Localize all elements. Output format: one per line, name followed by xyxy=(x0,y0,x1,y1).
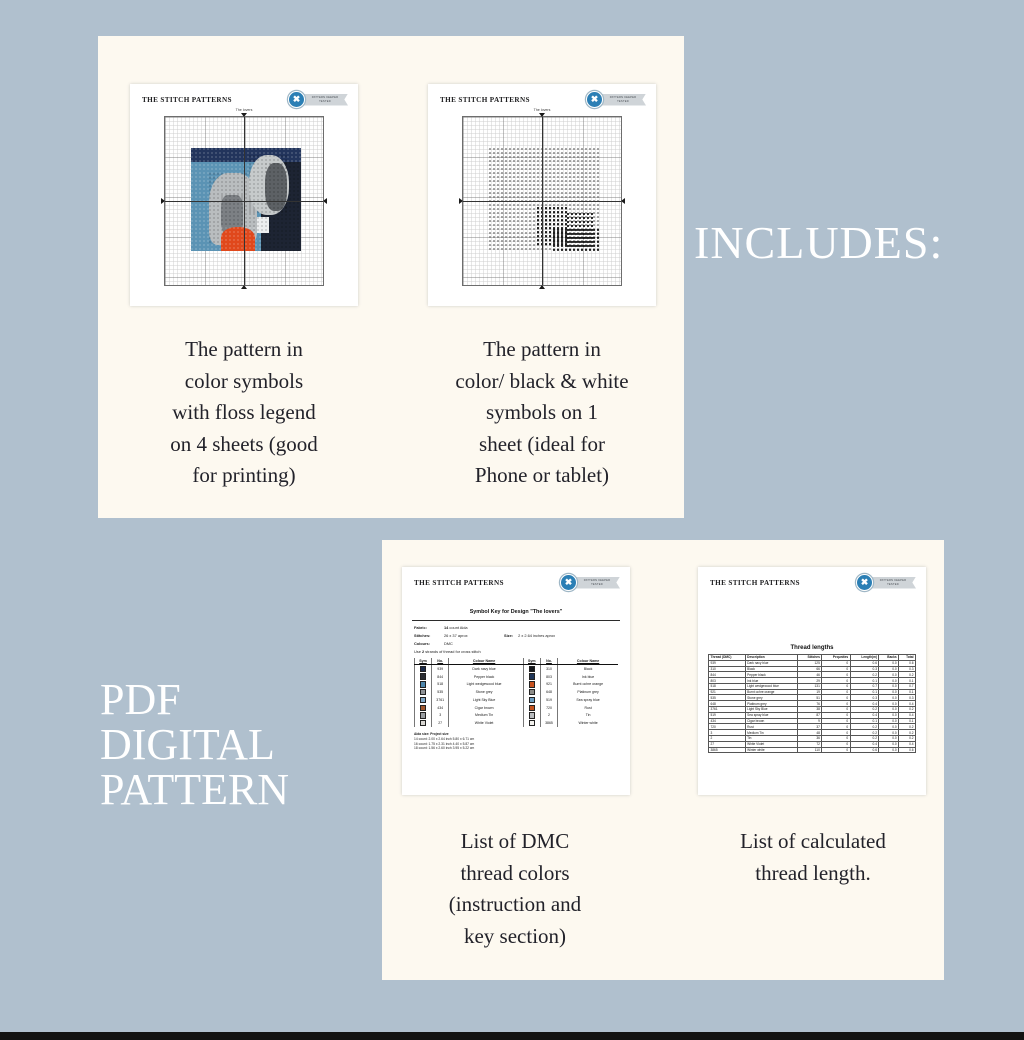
key-cell: Medium Tin xyxy=(449,712,519,720)
caption-line-1: The pattern in xyxy=(424,334,660,366)
table-row: 3761Light Sky Blue519Sea spray blue xyxy=(415,696,619,704)
key-cell: Cigar brown xyxy=(449,704,519,712)
color-symbol-icon xyxy=(420,720,426,726)
stitch-texture xyxy=(257,217,269,233)
table-row: 939Dark navy blue310Black xyxy=(415,665,619,673)
color-symbol-icon xyxy=(420,712,426,718)
key-cell: 519 xyxy=(540,696,557,704)
badge-ribbon-line-2: TESTED xyxy=(887,583,899,586)
key-cell: 310 xyxy=(540,665,557,673)
size-label: Size: xyxy=(504,633,513,638)
chart-grid[interactable] xyxy=(164,116,324,286)
pdf-heading-line-3: PATTERN xyxy=(100,768,360,813)
pattern-keeper-badge: ✖ PATTERN KEEPER TESTED xyxy=(586,91,646,108)
table-row: 535Stone grey648Platinum grey xyxy=(415,688,619,696)
key-cell: Pepper black xyxy=(449,673,519,681)
caption-line-3: with floss legend xyxy=(134,397,354,429)
key-cell: White Violet xyxy=(449,719,519,727)
symbol-swatch xyxy=(415,719,432,727)
symbol-swatch xyxy=(523,696,540,704)
strands-note-post: strands of thread for cross stitch xyxy=(424,649,480,654)
pdf-heading-line-1: PDF xyxy=(100,678,360,723)
caption-line-1: List of DMC xyxy=(406,826,624,858)
key-cell: 648 xyxy=(540,688,557,696)
stitches-value: 26 x 37 aprox xyxy=(444,633,504,638)
key-cell: Rust xyxy=(558,704,618,712)
thread-cell: 0.0 xyxy=(879,747,899,753)
badge-seal-icon: ✖ xyxy=(856,574,873,591)
pdf-digital-pattern-heading: PDF DIGITAL PATTERN xyxy=(100,678,360,813)
size-value: 2 x 2.64 inches aprox xyxy=(518,633,555,638)
badge-ribbon: PATTERN KEEPER TESTED xyxy=(302,94,348,106)
motif-white-highlight xyxy=(257,217,269,233)
key-cell: Ink blue xyxy=(558,673,618,681)
color-symbol-icon xyxy=(420,705,426,711)
symbol-swatch xyxy=(415,665,432,673)
color-symbol-icon xyxy=(529,712,535,718)
symbol-swatch xyxy=(523,719,540,727)
key-cell: Burnt ochre orange xyxy=(558,681,618,689)
sheet-brand-title: THE STITCH PATTERNS xyxy=(440,96,530,104)
symbol-swatch xyxy=(523,704,540,712)
key-cell: Light wedgewood blue xyxy=(449,681,519,689)
bw-chart[interactable]: The lovers xyxy=(462,116,622,288)
symbol-swatch xyxy=(415,696,432,704)
badge-ribbon: PATTERN KEEPER TESTED xyxy=(574,577,620,589)
pattern-keeper-badge: ✖ PATTERN KEEPER TESTED xyxy=(856,574,916,591)
meta-row-colours: Colours: DMC xyxy=(414,641,618,646)
thread-lengths-table: Thread (DMC)DescriptionStitchesPequnites… xyxy=(708,654,916,753)
symbol-swatch xyxy=(523,712,540,720)
bottom-bar xyxy=(0,1032,1024,1040)
aida-line: 18 count: 1.56 x 2.60 inch 3.95 x 5.22 c… xyxy=(414,746,618,751)
thread-lengths-title: Thread lengths xyxy=(698,645,926,651)
stitch-texture xyxy=(265,163,287,211)
color-symbol-icon xyxy=(420,666,426,672)
key-cell: 518 xyxy=(432,681,449,689)
key-cell: Light Sky Blue xyxy=(449,696,519,704)
caption-thread-length: List of calculatedthread length. xyxy=(700,826,926,889)
stitch-texture xyxy=(221,227,255,251)
badge-ribbon-line-2: TESTED xyxy=(591,583,603,586)
sheet-brand-title: THE STITCH PATTERNS xyxy=(414,579,504,587)
symbol-key-title: Symbol Key for Design "The lovers" xyxy=(402,609,630,615)
key-cell: 27 xyxy=(432,719,449,727)
key-cell: 535 xyxy=(432,688,449,696)
chart-grid[interactable] xyxy=(462,116,622,286)
thread-cell: 3865 xyxy=(709,747,746,753)
center-marker-left-icon xyxy=(459,198,463,204)
symbol-swatch xyxy=(415,681,432,689)
caption-line-2: color/ black & white xyxy=(424,366,660,398)
symbol-key-table: SymNo.Colour NameSymNo.Colour Name 939Da… xyxy=(414,658,618,727)
sheet-symbol-key[interactable]: THE STITCH PATTERNS ✖ PATTERN KEEPER TES… xyxy=(402,567,630,795)
pdf-heading-line-2: DIGITAL xyxy=(100,723,360,768)
aida-size-block: Aida size: Project size 14 count: 2.00 x… xyxy=(402,727,630,751)
key-cell: 3761 xyxy=(432,696,449,704)
divider xyxy=(412,620,620,621)
key-cell: Sea spray blue xyxy=(558,696,618,704)
pattern-meta: Fabric: 14 count Aida Stitches: 26 x 37 … xyxy=(402,625,630,654)
sheet-header: THE STITCH PATTERNS ✖ PATTERN KEEPER TES… xyxy=(698,567,926,593)
chart-center-horizontal xyxy=(165,201,323,202)
meta-row-fabric: Fabric: 14 count Aida xyxy=(414,625,618,630)
badge-seal-icon: ✖ xyxy=(560,574,577,591)
sheet-brand-title: THE STITCH PATTERNS xyxy=(142,96,232,104)
center-marker-right-icon xyxy=(621,198,625,204)
color-symbol-icon xyxy=(529,673,535,679)
badge-ribbon-line-2: TESTED xyxy=(617,100,629,103)
center-marker-top-icon xyxy=(241,113,247,117)
thread-cell: 110 xyxy=(798,747,822,753)
key-cell: Stone grey xyxy=(449,688,519,696)
center-marker-right-icon xyxy=(323,198,327,204)
color-symbol-icon xyxy=(420,681,426,687)
colours-label: Colours: xyxy=(414,641,444,646)
meta-row-stitches: Stitches: 26 x 37 aprox Size: 2 x 2.64 i… xyxy=(414,633,618,638)
center-marker-bottom-icon xyxy=(539,285,545,289)
caption-bw-symbols: The pattern incolor/ black & whitesymbol… xyxy=(424,334,660,492)
caption-line-5: Phone or tablet) xyxy=(424,460,660,492)
fabric-value: 14 count Aida xyxy=(444,625,504,630)
thread-cell: 0.6 xyxy=(850,747,879,753)
key-cell: 3865 xyxy=(540,719,557,727)
caption-color-symbols: The pattern incolor symbolswith floss le… xyxy=(134,334,354,492)
center-marker-left-icon xyxy=(161,198,165,204)
aida-heading: Aida size: Project size xyxy=(414,732,449,736)
color-chart[interactable]: The lovers xyxy=(164,116,324,288)
caption-line-1: List of calculated xyxy=(700,826,926,858)
symbol-swatch xyxy=(523,681,540,689)
color-symbol-icon xyxy=(420,689,426,695)
chart-center-horizontal xyxy=(463,201,621,202)
caption-line-4: sheet (ideal for xyxy=(424,429,660,461)
symbol-swatch xyxy=(415,712,432,720)
caption-line-3: (instruction and xyxy=(406,889,624,921)
pattern-keeper-badge: ✖ PATTERN KEEPER TESTED xyxy=(288,91,348,108)
sheet-header: THE STITCH PATTERNS ✖ PATTERN KEEPER TES… xyxy=(130,84,358,110)
motif-figure-right-shade xyxy=(265,163,287,211)
caption-line-5: for printing) xyxy=(134,460,354,492)
color-symbol-icon xyxy=(529,720,535,726)
chart-design-name: The lovers xyxy=(462,108,622,112)
fabric-kind: count Aida xyxy=(449,625,467,630)
fabric-count: 14 xyxy=(444,625,448,630)
thread-cell: 0 xyxy=(822,747,850,753)
caption-line-4: key section) xyxy=(406,921,624,953)
key-cell: Platinum grey xyxy=(558,688,618,696)
badge-seal-icon: ✖ xyxy=(586,91,603,108)
symbol-swatch xyxy=(523,665,540,673)
badge-ribbon: PATTERN KEEPER TESTED xyxy=(600,94,646,106)
stitches-label: Stitches: xyxy=(414,633,444,638)
motif-orange-accent xyxy=(221,227,255,251)
sheet-brand-title: THE STITCH PATTERNS xyxy=(710,579,800,587)
key-cell: Tin xyxy=(558,712,618,720)
caption-line-2: thread colors xyxy=(406,858,624,890)
thread-cell: 0.6 xyxy=(899,747,916,753)
key-cell: 803 xyxy=(540,673,557,681)
strands-note-pre: Use xyxy=(414,649,422,654)
color-symbol-icon xyxy=(420,673,426,679)
key-cell: 434 xyxy=(432,704,449,712)
table-row: 844Pepper black803Ink blue xyxy=(415,673,619,681)
pattern-keeper-badge: ✖ PATTERN KEEPER TESTED xyxy=(560,574,620,591)
aida-lines: 14 count: 2.00 x 2.64 inch 5.80 x 6.71 c… xyxy=(414,737,618,751)
sheet-bw-chart[interactable]: THE STITCH PATTERNS ✖ PATTERN KEEPER TES… xyxy=(428,84,656,306)
symbol-swatch xyxy=(523,688,540,696)
caption-line-3: symbols on 1 xyxy=(424,397,660,429)
key-cell: Dark navy blue xyxy=(449,665,519,673)
symbol-swatch xyxy=(415,673,432,681)
caption-line-1: The pattern in xyxy=(134,334,354,366)
key-cell: 2 xyxy=(540,712,557,720)
color-symbol-icon xyxy=(529,681,535,687)
includes-heading: INCLUDES: xyxy=(694,216,943,269)
thread-lengths-rows: 939Dark navy blue12500.60.00.6310Black66… xyxy=(709,660,916,753)
fabric-label: Fabric: xyxy=(414,625,444,630)
key-cell: 720 xyxy=(540,704,557,712)
color-symbol-icon xyxy=(420,697,426,703)
symbol-key-rows: 939Dark navy blue310Black844Pepper black… xyxy=(415,665,619,728)
motif-mid-cluster xyxy=(553,229,599,251)
key-cell: Winter white xyxy=(558,719,618,727)
key-cell: Black xyxy=(558,665,618,673)
symbol-swatch xyxy=(523,673,540,681)
key-cell: 939 xyxy=(432,665,449,673)
sheet-thread-lengths[interactable]: THE STITCH PATTERNS ✖ PATTERN KEEPER TES… xyxy=(698,567,926,795)
sheet-header: THE STITCH PATTERNS ✖ PATTERN KEEPER TES… xyxy=(428,84,656,110)
thread-cell: Winter white xyxy=(745,747,798,753)
table-row: 3865Winter white11000.60.00.6 xyxy=(709,747,916,753)
badge-ribbon: PATTERN KEEPER TESTED xyxy=(870,577,916,589)
sheet-header: THE STITCH PATTERNS ✖ PATTERN KEEPER TES… xyxy=(402,567,630,593)
key-cell: 921 xyxy=(540,681,557,689)
color-symbol-icon xyxy=(529,705,535,711)
key-cell: 3 xyxy=(432,712,449,720)
key-cell: 844 xyxy=(432,673,449,681)
symbol-swatch xyxy=(415,704,432,712)
table-row: 434Cigar brown720Rust xyxy=(415,704,619,712)
caption-line-2: thread length. xyxy=(700,858,926,890)
badge-seal-icon: ✖ xyxy=(288,91,305,108)
chart-design-name: The lovers xyxy=(164,108,324,112)
color-symbol-icon xyxy=(529,666,535,672)
table-row: 27White Violet3865Winter white xyxy=(415,719,619,727)
center-marker-bottom-icon xyxy=(241,285,247,289)
caption-line-2: color symbols xyxy=(134,366,354,398)
strands-note: Use 2 strands of thread for cross stitch xyxy=(414,649,618,654)
colours-value: DMC xyxy=(444,641,504,646)
table-row: 3Medium Tin2Tin xyxy=(415,712,619,720)
table-row: 518Light wedgewood blue921Burnt ochre or… xyxy=(415,681,619,689)
color-symbol-icon xyxy=(529,697,535,703)
symbol-swatch xyxy=(415,688,432,696)
sheet-color-chart[interactable]: THE STITCH PATTERNS ✖ PATTERN KEEPER TES… xyxy=(130,84,358,306)
center-marker-top-icon xyxy=(539,113,545,117)
caption-line-4: on 4 sheets (good xyxy=(134,429,354,461)
caption-dmc-list: List of DMCthread colors(instruction and… xyxy=(406,826,624,952)
color-symbol-icon xyxy=(529,689,535,695)
badge-ribbon-line-2: TESTED xyxy=(319,100,331,103)
stitch-texture xyxy=(553,229,599,251)
